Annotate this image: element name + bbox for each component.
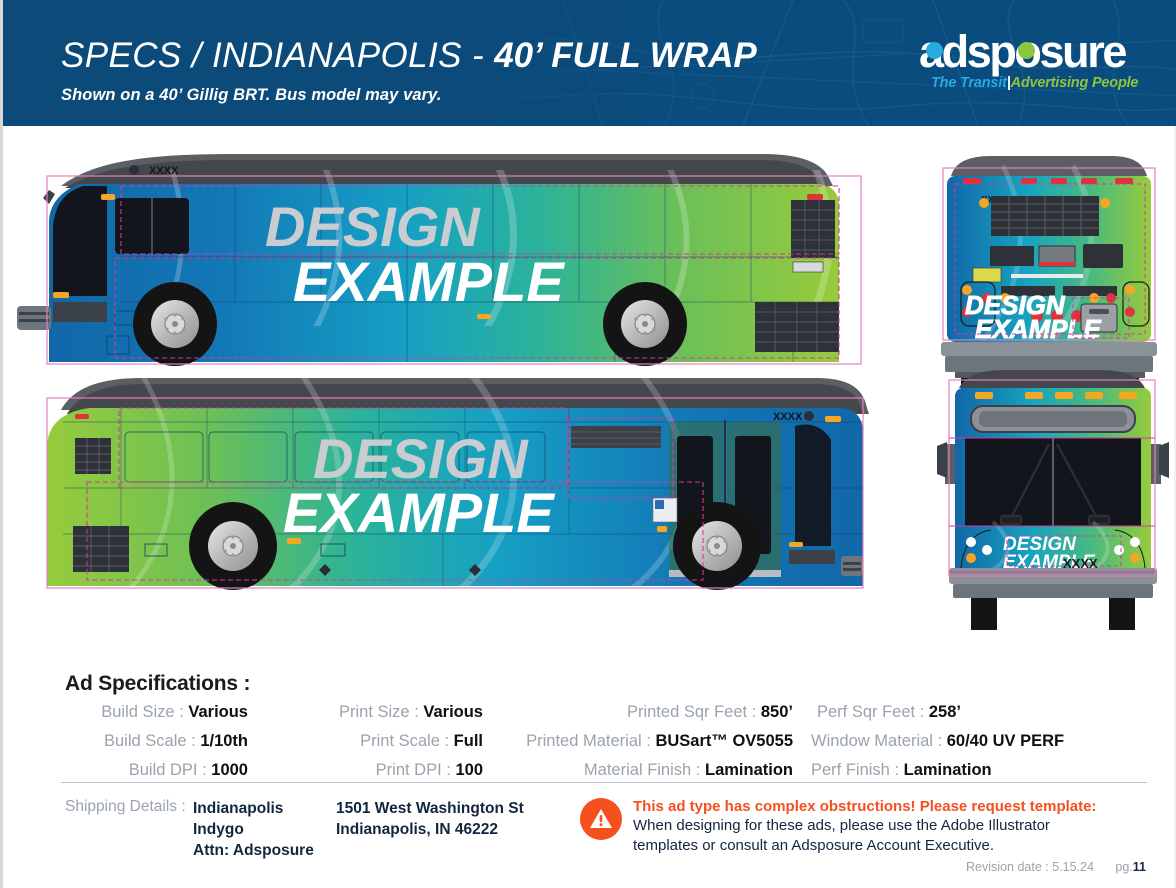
shipping-address-line-2: Indianapolis, IN 46222 (336, 819, 524, 840)
logo-dot-o-icon (1018, 42, 1035, 59)
shipping-label: Shipping Details : (65, 798, 186, 816)
section-divider (61, 782, 1147, 783)
warning-body: When designing for these ads, please use… (633, 816, 1133, 856)
spec-build-dpi: Build DPI : 1000 (31, 758, 266, 783)
bus-front-view: DESIGN EXAMPLE XXXX (937, 370, 1169, 630)
spec-label: Build Scale (104, 732, 187, 750)
page-title-strong: 40’ FULL WRAP (494, 36, 757, 75)
revision-date: Revision date : 5.15.24 (966, 860, 1094, 874)
spec-build-scale: Build Scale : 1/10th (31, 729, 266, 754)
page-title-plain: SPECS / INDIANAPOLIS - (61, 36, 494, 75)
spec-print-dpi: Print DPI : 100 (266, 758, 501, 783)
bus-diagrams: XXXX DESIG (3, 126, 1176, 646)
spec-label: Build DPI (129, 761, 198, 779)
spec-value: Full (454, 732, 483, 750)
specs-grid: Build Size : Various Print Size : Variou… (3, 700, 1176, 783)
bus-number-placeholder: XXXX (149, 165, 179, 177)
spec-value: 60/40 UV PERF (947, 732, 1064, 750)
spec-printed-material: Printed Material : BUSart™ OV5055 (501, 729, 811, 754)
spec-value: 1000 (211, 761, 248, 779)
warning-icon (580, 798, 622, 840)
logo-tagline-part2: Advertising People (1011, 75, 1139, 91)
bus-curb-side-view: XXXX DESIG (17, 126, 861, 376)
spec-value: 100 (455, 761, 483, 779)
warning-body-line-2: templates or consult an Adsposure Accoun… (633, 836, 1133, 856)
page-header: SPECS / INDIANAPOLIS - 40’ FULL WRAP Sho… (3, 0, 1176, 126)
shipping-name-line-1: Indianapolis (193, 798, 314, 819)
spec-value: 1/10th (200, 732, 248, 750)
shipping-recipient: Indianapolis Indygo Attn: Adsposure (193, 798, 314, 861)
spec-label: Material Finish (584, 761, 691, 779)
page-title: SPECS / INDIANAPOLIS - 40’ FULL WRAP (61, 36, 757, 76)
page-number: 11 (1133, 860, 1146, 874)
shipping-address-line-1: 1501 West Washington St (336, 798, 524, 819)
bus-artwork-area: XXXX DESIG (3, 126, 1176, 646)
warning-headline: This ad type has complex obstructions! P… (633, 797, 1133, 816)
spec-label: Perf Sqr Feet (817, 703, 915, 721)
warning-text-block: This ad type has complex obstructions! P… (633, 797, 1133, 856)
spec-value: BUSart™ OV5055 (655, 732, 793, 750)
page-footer: Revision date : 5.15.24 pg.11 (966, 860, 1146, 874)
page-subtitle: Shown on a 40’ Gillig BRT. Bus model may… (61, 86, 442, 105)
spec-build-size: Build Size : Various (31, 700, 266, 725)
street-design-line2: EXAMPLE (283, 481, 555, 544)
design-text-line1: DESIGN (265, 195, 481, 258)
spec-value: Various (188, 703, 248, 721)
page-label: pg. (1115, 860, 1132, 874)
spec-printed-sqr-feet: Printed Sqr Feet : 850’ (501, 700, 811, 725)
street-bus-number: XXXX (773, 411, 803, 423)
shipping-name-line-2: Indygo (193, 819, 314, 840)
spec-value: 850’ (761, 703, 793, 721)
spec-perf-sqr-feet: Perf Sqr Feet : 258’ (811, 700, 1101, 725)
spec-material-finish: Material Finish : Lamination (501, 758, 811, 783)
spec-print-scale: Print Scale : Full (266, 729, 501, 754)
spec-sheet-page: SPECS / INDIANAPOLIS - 40’ FULL WRAP Sho… (0, 0, 1176, 888)
logo-tagline-part1: The Transit (931, 75, 1007, 91)
spec-value: Lamination (705, 761, 793, 779)
spec-label: Printed Sqr Feet (627, 703, 747, 721)
design-text-line2: EXAMPLE (293, 250, 565, 313)
specs-heading: Ad Specifications : (65, 672, 250, 696)
spec-perf-finish: Perf Finish : Lamination (811, 758, 1101, 783)
spec-label: Printed Material (526, 732, 642, 750)
spec-label: Build Size (101, 703, 174, 721)
front-bus-number: XXXX (1063, 556, 1098, 571)
warning-body-line-1: When designing for these ads, please use… (633, 816, 1133, 836)
spec-label: Print Size (339, 703, 410, 721)
spec-print-size: Print Size : Various (266, 700, 501, 725)
spec-label: Print DPI (376, 761, 442, 779)
spec-value: 258’ (929, 703, 961, 721)
logo-tagline: The Transit|Advertising People (931, 75, 1138, 91)
spec-value: Lamination (904, 761, 992, 779)
spec-label: Perf Finish (811, 761, 890, 779)
spec-label: Print Scale (360, 732, 440, 750)
shipping-address: 1501 West Washington St Indianapolis, IN… (336, 798, 524, 840)
logo-dot-a-icon (926, 42, 943, 59)
shipping-name-line-3: Attn: Adsposure (193, 840, 314, 861)
spec-window-material: Window Material : 60/40 UV PERF (811, 729, 1101, 754)
bus-street-side-view: XXXX (47, 376, 869, 596)
adsposure-logo[interactable]: adsposure The Transit|Advertising People (919, 28, 1141, 100)
alert-triangle-icon (588, 806, 614, 832)
spec-label: Window Material (811, 732, 933, 750)
spec-value: Various (423, 703, 483, 721)
